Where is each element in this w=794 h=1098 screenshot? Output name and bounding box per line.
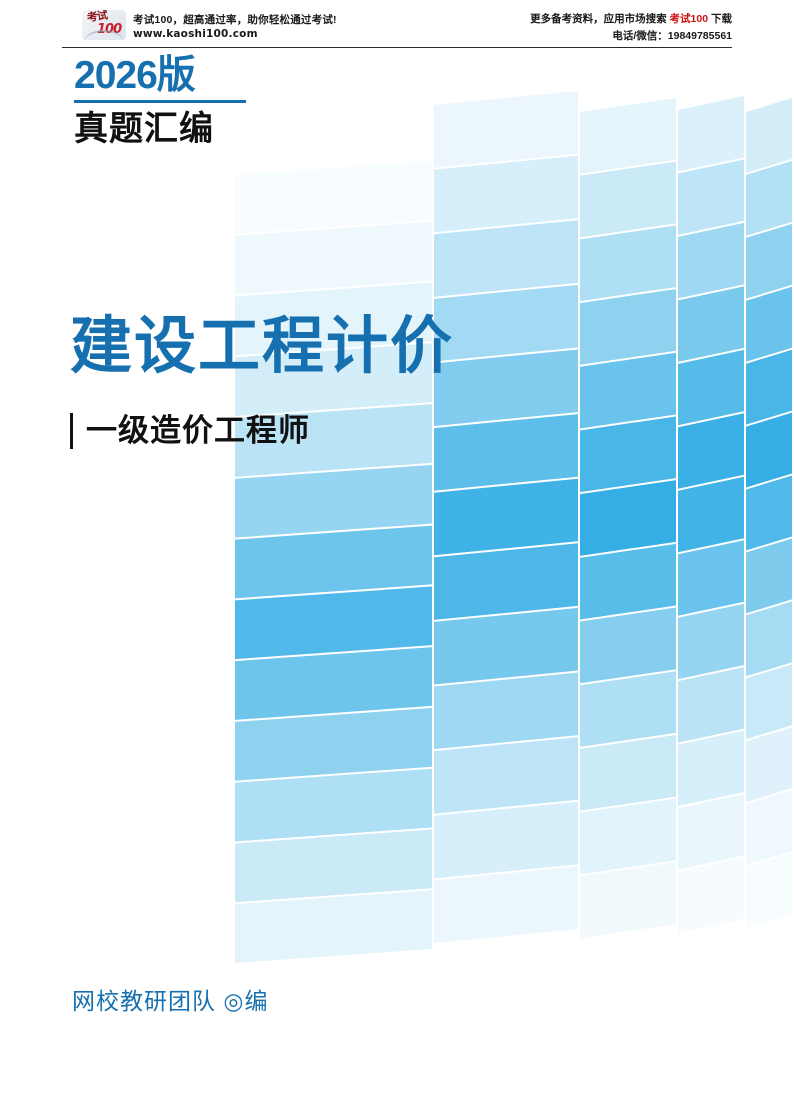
book-cover: 考试 100 考试100，超高通过率，助你轻松通过考试! www.kaoshi1… (0, 0, 794, 1098)
edition-year: 2026版 (74, 54, 246, 98)
grid-cell (678, 350, 744, 425)
grid-cell (235, 526, 432, 599)
grid-cell (580, 608, 676, 684)
grid-cell (434, 285, 578, 362)
grid-cell (434, 673, 578, 750)
grid-cell (746, 287, 792, 362)
grid-cell (746, 476, 792, 551)
header-website[interactable]: www.kaoshi100.com (133, 28, 258, 40)
grid-cell (678, 159, 744, 234)
background-grid-pattern (0, 0, 794, 1098)
grid-cell (434, 220, 578, 297)
grid-cell (678, 477, 744, 552)
grid-cell (434, 608, 578, 685)
book-subtitle-row: 一级造价工程师 (70, 412, 310, 450)
grid-cell (434, 866, 578, 943)
grid-cell (580, 225, 676, 301)
grid-cell (580, 544, 676, 620)
grid-cell (434, 802, 578, 879)
grid-cell (746, 224, 792, 299)
grid-cell (580, 862, 676, 938)
header-tagline: 考试100，超高通过率，助你轻松通过考试! (133, 12, 337, 27)
header-download-note: 更多备考资料，应用市场搜索 考试100 下载 (530, 11, 732, 26)
grid-cell (678, 794, 744, 869)
grid-cell (235, 829, 432, 902)
edition-series: 真题汇编 (74, 107, 246, 151)
grid-cell (235, 647, 432, 720)
header-contact: 电话/微信：19849785561 (612, 28, 732, 43)
grid-cell (434, 479, 578, 556)
grid-cell (235, 222, 432, 295)
header: 考试 100 考试100，超高通过率，助你轻松通过考试! www.kaoshi1… (0, 0, 794, 48)
grid-cell (580, 353, 676, 429)
grid-cell (580, 289, 676, 365)
grid-cell (580, 671, 676, 747)
grid-cell (746, 664, 792, 739)
book-title: 建设工程计价 (70, 310, 454, 384)
grid-cell (678, 731, 744, 806)
grid-cell (434, 543, 578, 620)
edition-block: 2026版 真题汇编 (74, 54, 246, 151)
grid-cell (746, 790, 792, 865)
grid-cell (678, 604, 744, 679)
header-divider (62, 47, 732, 48)
kaoshi100-logo-icon: 考试 100 (82, 10, 126, 40)
grid-cell (678, 667, 744, 742)
grid-cell (746, 350, 792, 425)
grid-cell (434, 91, 578, 168)
grid-cell (678, 286, 744, 361)
grid-cell (434, 349, 578, 426)
grid-cell (746, 98, 792, 173)
edition-divider (74, 100, 246, 103)
grid-cell (746, 538, 792, 613)
grid-cell (580, 735, 676, 811)
grid-cell (678, 413, 744, 488)
header-download-brand: 考试100 (670, 13, 709, 25)
grid-cell (235, 890, 432, 963)
grid-cell (746, 601, 792, 676)
author-credit: 网校教研团队 ◎编 (72, 982, 268, 1016)
book-subtitle: 一级造价工程师 (86, 412, 310, 450)
grid-cell (746, 413, 792, 488)
grid-cell (235, 769, 432, 842)
grid-cell (434, 156, 578, 233)
grid-cell (434, 737, 578, 814)
grid-cell (235, 708, 432, 781)
grid-cell (580, 480, 676, 556)
grid-cell (580, 416, 676, 492)
header-download-post: 下载 (708, 13, 732, 25)
grid-cell (678, 96, 744, 171)
grid-cell (235, 161, 432, 234)
header-download-pre: 更多备考资料，应用市场搜索 (530, 13, 669, 25)
grid-cell (580, 162, 676, 238)
grid-cell (746, 853, 792, 928)
subtitle-accent-bar (70, 413, 73, 449)
grid-cell (580, 98, 676, 174)
grid-cell (235, 586, 432, 659)
grid-cell (434, 414, 578, 491)
grid-cell (678, 858, 744, 933)
grid-cell (678, 223, 744, 298)
grid-cell (580, 799, 676, 875)
grid-cell (678, 540, 744, 615)
grid-cell (746, 161, 792, 236)
grid-cell (235, 465, 432, 538)
grid-cell (746, 727, 792, 802)
